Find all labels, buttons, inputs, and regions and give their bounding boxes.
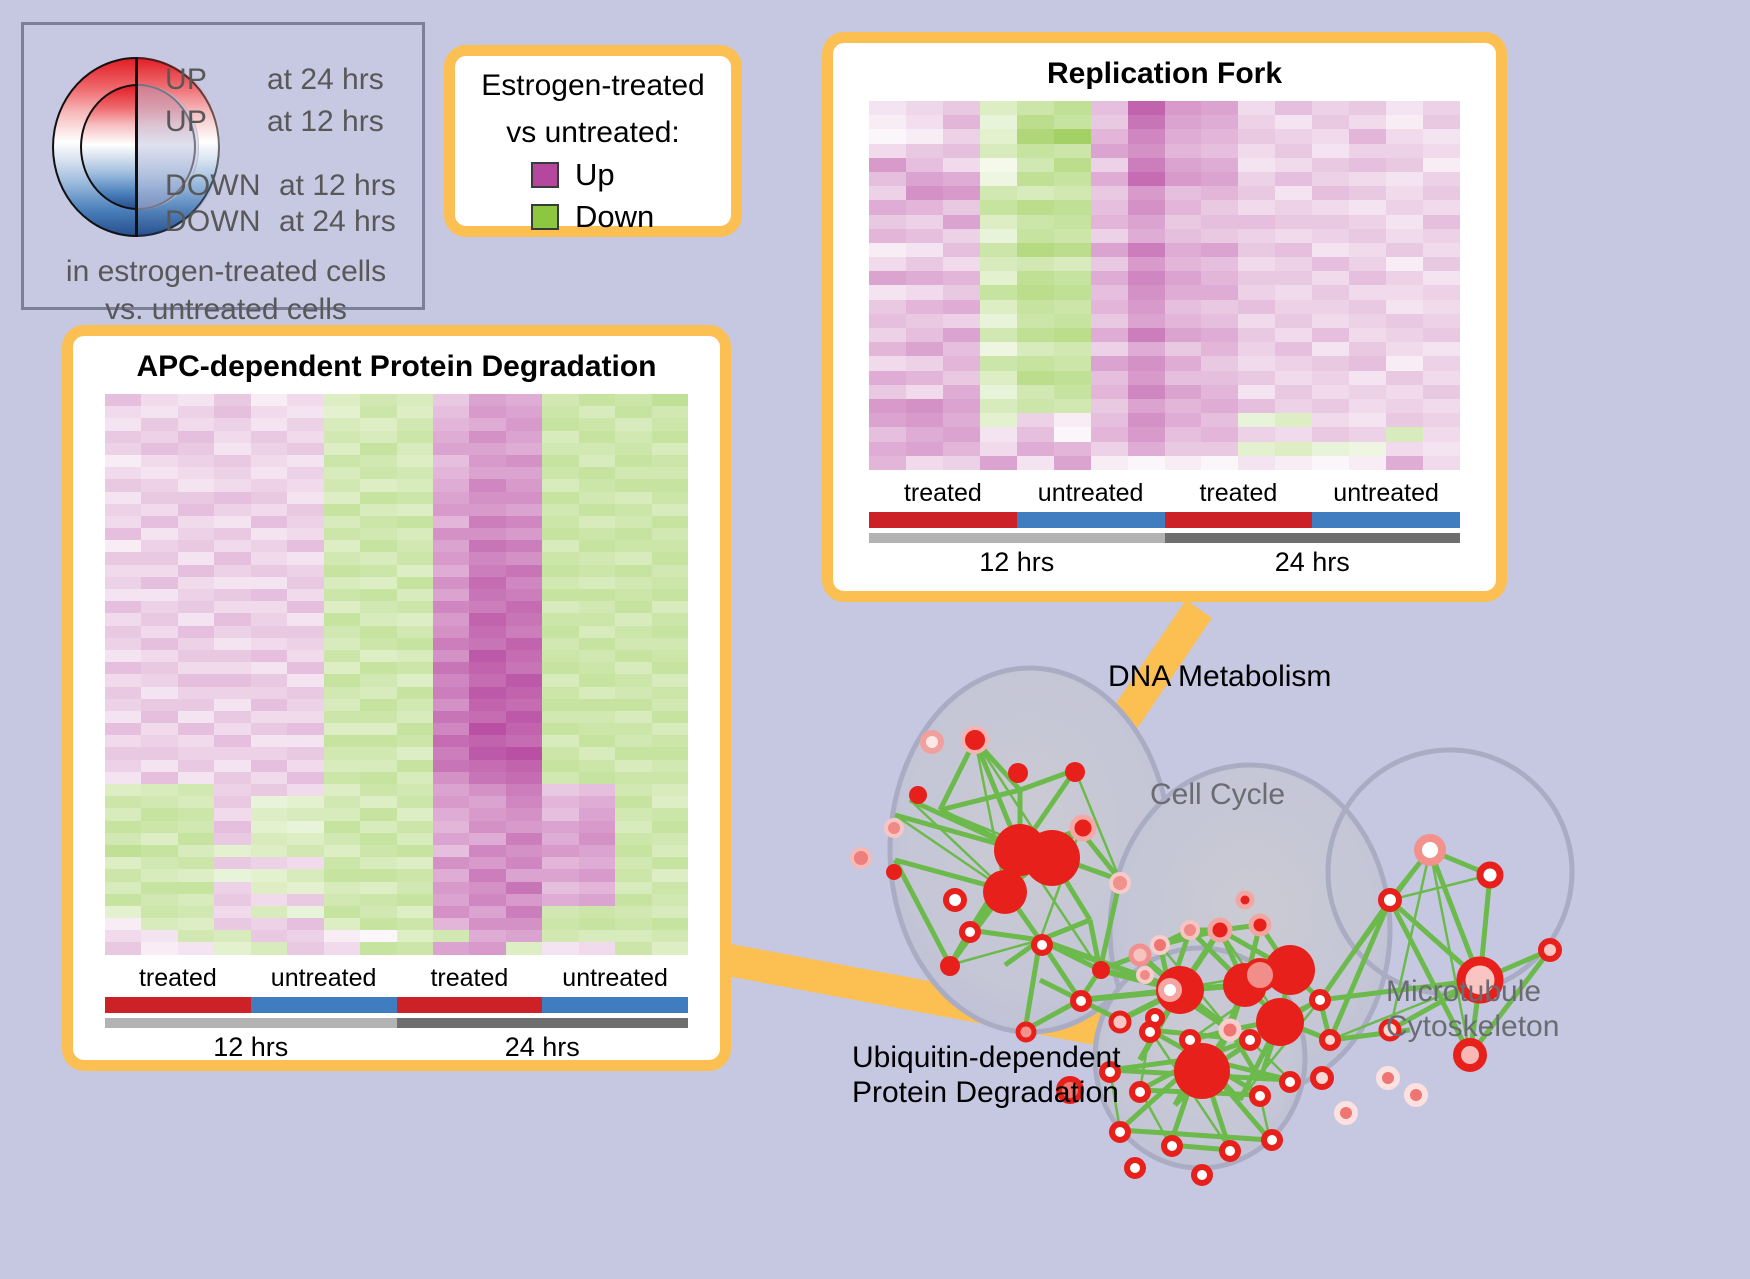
cluster-label-ubiquitin: Ubiquitin-dependentProtein Degradation <box>852 1040 1121 1111</box>
rf-time-label-24: 24 hrs <box>1165 547 1461 578</box>
apc-degradation-panel: APC-dependent Protein Degradation treate… <box>62 325 731 1071</box>
wheel-time-down-12: at 12 hrs <box>279 169 396 203</box>
rf-time-labels: 12 hrs 24 hrs <box>869 547 1460 578</box>
up-color-swatch <box>531 162 559 188</box>
apc-group-label-2: treated <box>397 964 543 993</box>
down-color-swatch <box>531 204 559 230</box>
apc-bar-treated-24 <box>397 997 543 1013</box>
wheel-time-up-24: at 24 hrs <box>267 63 384 97</box>
apc-group-label-0: treated <box>105 964 251 993</box>
wheel-legend-footer: in estrogen-treated cells vs. untreated … <box>24 253 428 328</box>
replication-fork-heatmap <box>869 101 1460 470</box>
apc-bar-untreated-24 <box>542 997 688 1013</box>
rf-timebar-12 <box>869 533 1165 543</box>
apc-bar-treated-12 <box>105 997 251 1013</box>
wheel-label-down-12: DOWN <box>165 169 261 203</box>
cluster-label-microtubule: MicrotubuleCytoskeleton <box>1386 974 1559 1045</box>
cluster-label-dna-metabolism: DNA Metabolism <box>1108 660 1331 694</box>
wheel-label-down-24: DOWN <box>165 205 261 239</box>
cluster-label-cell-cycle: Cell Cycle <box>1150 778 1285 812</box>
rf-bar-treated-24 <box>1165 512 1313 528</box>
estrogen-key-box: Estrogen-treated vs untreated: Up Down <box>444 45 742 237</box>
key-title-line1: Estrogen-treated <box>455 56 731 103</box>
wheel-footer-line1: in estrogen-treated cells <box>24 253 428 291</box>
apc-panel-title: APC-dependent Protein Degradation <box>73 336 720 384</box>
rf-group-label-2: treated <box>1165 479 1313 508</box>
apc-group-label-3: untreated <box>542 964 688 993</box>
rf-bar-untreated-12 <box>1017 512 1165 528</box>
apc-time-bar <box>105 1018 688 1028</box>
apc-group-label-1: untreated <box>251 964 397 993</box>
apc-timebar-12 <box>105 1018 397 1028</box>
apc-time-label-24: 24 hrs <box>397 1032 689 1063</box>
rf-time-label-12: 12 hrs <box>869 547 1165 578</box>
key-label-up: Up <box>575 157 615 193</box>
wheel-time-up-12: at 12 hrs <box>267 105 384 139</box>
wheel-vertical-divider <box>135 57 138 237</box>
apc-group-labels: treated untreated treated untreated <box>105 964 688 993</box>
wheel-time-down-24: at 24 hrs <box>279 205 396 239</box>
rf-time-bar <box>869 533 1460 543</box>
rf-bar-untreated-24 <box>1312 512 1460 528</box>
key-label-down: Down <box>575 199 654 235</box>
apc-heatmap <box>105 394 688 955</box>
wheel-footer-line2: vs. untreated cells <box>24 291 428 329</box>
replication-fork-panel: Replication Fork treated untreated treat… <box>822 32 1507 602</box>
regulation-color-wheel-legend: UP at 24 hrs UP at 12 hrs DOWN at 12 hrs… <box>21 22 425 310</box>
rf-group-label-0: treated <box>869 479 1017 508</box>
key-title-line2: vs untreated: <box>455 103 731 150</box>
rf-group-label-3: untreated <box>1312 479 1460 508</box>
apc-treatment-bar <box>105 997 688 1013</box>
apc-timebar-24 <box>397 1018 689 1028</box>
apc-time-label-12: 12 hrs <box>105 1032 397 1063</box>
wheel-label-up-24: UP <box>165 63 207 97</box>
rf-treatment-bar <box>869 512 1460 528</box>
rf-bar-treated-12 <box>869 512 1017 528</box>
key-item-up: Up <box>531 157 731 193</box>
apc-time-labels: 12 hrs 24 hrs <box>105 1032 688 1063</box>
rf-group-label-1: untreated <box>1017 479 1165 508</box>
key-item-down: Down <box>531 199 731 235</box>
pathway-network-graph: DNA Metabolism Cell Cycle MicrotubuleCyt… <box>790 600 1750 1279</box>
rf-timebar-24 <box>1165 533 1461 543</box>
wheel-label-up-12: UP <box>165 105 207 139</box>
apc-bar-untreated-12 <box>251 997 397 1013</box>
rf-group-labels: treated untreated treated untreated <box>869 479 1460 508</box>
replication-fork-title: Replication Fork <box>833 43 1496 91</box>
network-svg <box>790 600 1750 1279</box>
